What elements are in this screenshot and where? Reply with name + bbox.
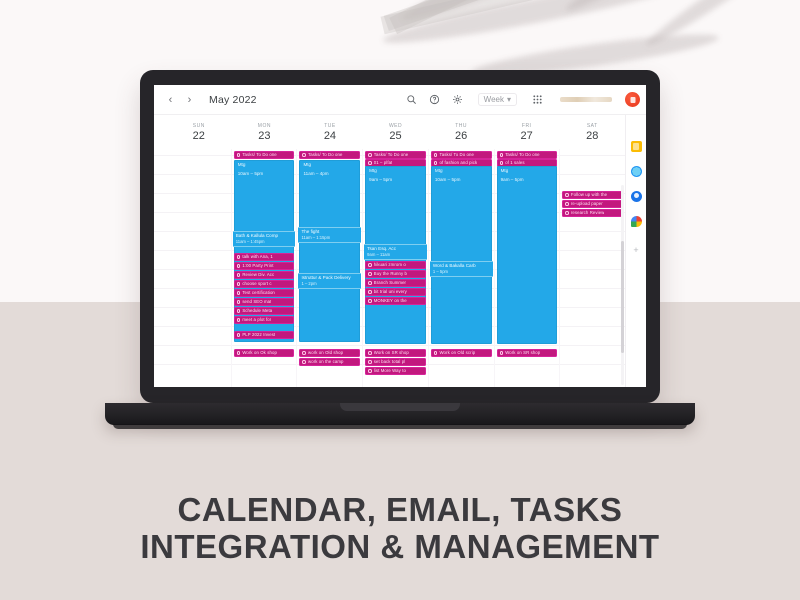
task-label: Follow up with the <box>571 192 607 197</box>
day-of-week-label: FRI <box>522 123 532 129</box>
task-checkbox-icon[interactable] <box>302 351 306 355</box>
addon-sidebar: + <box>625 115 646 387</box>
event-title: Mtg <box>300 161 359 170</box>
calendar-subevent[interactable]: Istruttur & Pack Delivery1 – 2pm <box>298 273 361 289</box>
search-icon[interactable] <box>403 91 420 108</box>
task-label: work on the camp <box>308 359 344 364</box>
laptop-mockup: ‹ › May 2022 <box>140 70 660 425</box>
task-label: Test certification <box>242 290 275 295</box>
calendar-event[interactable]: Mtg9am – 5pm <box>497 166 558 344</box>
task-chip[interactable]: Work on SR shop <box>365 349 426 357</box>
task-label: Review Div. Acc <box>242 272 274 277</box>
task-checkbox-icon[interactable] <box>237 255 241 259</box>
chevron-down-icon: ▾ <box>507 95 511 104</box>
task-checkbox-icon[interactable] <box>237 153 241 157</box>
subevent-time: 1 – 5pm <box>433 269 490 275</box>
calendar-grid: SUN22MON23TUE24WED25THU26FRI27SAT28 Task… <box>154 115 625 387</box>
task-label: 1:00 Party Print <box>242 263 273 268</box>
calendar-toolbar: ‹ › May 2022 <box>154 85 646 115</box>
day-header-fri[interactable]: FRI27 <box>494 115 560 149</box>
task-label: choose sport c <box>242 281 271 286</box>
task-label: set back total pl <box>374 359 406 364</box>
subevent-time: 1 – 2pm <box>301 281 358 287</box>
day-header-sun[interactable]: SUN22 <box>166 115 232 149</box>
task-checkbox-icon[interactable] <box>368 290 372 294</box>
day-number-label: 23 <box>258 130 270 142</box>
task-label: Work on SR shop <box>505 350 540 355</box>
task-chip[interactable]: talk with Ana, 1 <box>234 253 295 261</box>
task-label: of 1 sales <box>505 160 524 165</box>
help-icon[interactable] <box>426 91 443 108</box>
task-checkbox-icon[interactable] <box>302 360 306 364</box>
day-header-tue[interactable]: TUE24 <box>297 115 363 149</box>
maps-addon-icon[interactable] <box>631 216 642 227</box>
day-number-label: 22 <box>193 130 205 142</box>
view-mode-dropdown[interactable]: Week ▾ <box>478 93 517 106</box>
task-label: Tasks/ To Do one <box>308 152 342 157</box>
calendar-subevent[interactable]: Tsan Esq. Acc9am – 11am <box>364 244 427 260</box>
event-title: Mtg <box>498 167 557 176</box>
tasks-addon-icon[interactable] <box>631 166 642 177</box>
settings-gear-icon[interactable] <box>449 91 466 108</box>
day-number-label: 26 <box>455 130 467 142</box>
day-column-sun[interactable] <box>166 149 231 387</box>
task-checkbox-icon[interactable] <box>237 300 241 304</box>
task-checkbox-icon[interactable] <box>368 272 372 276</box>
task-label: work on Old shop <box>308 350 343 355</box>
task-label: Tasks/ To Do one <box>505 152 539 157</box>
task-label: send SEO mat <box>242 299 271 304</box>
day-header-sat[interactable]: SAT28 <box>559 115 625 149</box>
subevent-time: 11am – 1:45pm <box>236 239 293 245</box>
task-label: Work on Ok shop <box>242 350 277 355</box>
calendar-subevent[interactable]: Bath & Kallula Comp11am – 1:45pm <box>233 231 296 247</box>
task-label: Tasks/ To Do one <box>439 152 473 157</box>
task-checkbox-icon[interactable] <box>368 351 372 355</box>
apps-grid-icon[interactable] <box>529 91 546 108</box>
task-label: research Review <box>571 210 605 215</box>
calendar-event[interactable]: Mtg11am – 4pm <box>299 160 360 342</box>
task-label: list More Way to <box>374 368 406 373</box>
day-of-week-label: SAT <box>587 123 598 129</box>
task-label: meet a plot for <box>242 317 271 322</box>
task-label: talk with Ana, 1 <box>242 254 273 259</box>
task-checkbox-icon[interactable] <box>434 153 438 157</box>
task-checkbox-icon[interactable] <box>434 351 438 355</box>
task-checkbox-icon[interactable] <box>565 202 569 206</box>
day-of-week-label: THU <box>455 123 467 129</box>
scrollbar-thumb[interactable] <box>621 241 624 353</box>
avatar[interactable] <box>625 92 640 107</box>
task-checkbox-icon[interactable] <box>368 153 372 157</box>
event-title: Mtg <box>235 161 294 170</box>
task-chip[interactable]: work on the camp <box>299 358 360 366</box>
day-number-label: 24 <box>324 130 336 142</box>
vertical-scrollbar[interactable] <box>621 185 624 385</box>
task-chip[interactable]: hikuari zmrom o <box>365 261 426 269</box>
task-chip[interactable]: Tasks/ To Do one <box>497 151 558 159</box>
task-chip[interactable]: set back total pl <box>365 358 426 366</box>
task-chip[interactable]: Work on SR shop <box>497 349 558 357</box>
calendar-subevent[interactable]: The fight11am – 1:15pm <box>298 227 361 243</box>
day-of-week-label: SUN <box>193 123 205 129</box>
task-label: 01 – plfat <box>374 160 393 165</box>
task-chip[interactable]: Tasks/ To Do one <box>299 151 360 159</box>
laptop-base-notch <box>340 403 460 411</box>
day-header-thu[interactable]: THU26 <box>428 115 494 149</box>
caption-line-2: INTEGRATION & MANAGEMENT <box>0 529 800 566</box>
task-label: Tasks/ To Do one <box>242 152 276 157</box>
day-columns: Tasks/ To Do oneMtg10am – 5pmBath & Kall… <box>166 149 625 387</box>
task-chip[interactable]: work on Old shop <box>299 349 360 357</box>
task-chip[interactable]: list More Way to <box>365 367 426 375</box>
day-column-mon[interactable]: Tasks/ To Do oneMtg10am – 5pmBath & Kall… <box>231 149 297 387</box>
task-chip[interactable]: MONKEY on the <box>365 297 426 305</box>
task-chip[interactable]: Tasks/ To Do one <box>365 151 426 159</box>
task-checkbox-icon[interactable] <box>237 309 241 313</box>
task-label: Schedule Meta <box>242 308 272 313</box>
view-mode-value: Week <box>484 95 504 104</box>
day-header-row: SUN22MON23TUE24WED25THU26FRI27SAT28 <box>154 115 625 149</box>
add-addon-icon[interactable]: + <box>632 245 641 254</box>
task-label: MONKEY on the <box>374 298 407 303</box>
calendar-body: SUN22MON23TUE24WED25THU26FRI27SAT28 Task… <box>154 115 646 387</box>
prev-week-button[interactable]: ‹ <box>164 93 177 106</box>
task-checkbox-icon[interactable] <box>237 264 241 268</box>
day-column-wed[interactable]: Tasks/ To Do one01 – plfatMtg9am – 5pmTs… <box>362 149 428 387</box>
task-checkbox-icon[interactable] <box>237 282 241 286</box>
task-chip[interactable]: bit trial uni every <box>365 288 426 296</box>
task-checkbox-icon[interactable] <box>368 360 372 364</box>
month-label: May 2022 <box>209 94 257 106</box>
event-time: 9am – 5pm <box>366 176 425 185</box>
task-checkbox-icon[interactable] <box>368 369 372 373</box>
day-of-week-label: MON <box>258 123 271 129</box>
task-chip[interactable]: meet a plot for <box>234 316 295 324</box>
task-label: Work on Old scrip <box>439 350 475 355</box>
task-checkbox-icon[interactable] <box>500 153 504 157</box>
task-chip[interactable]: Follow up with the <box>562 191 623 199</box>
laptop-base-foot <box>113 424 687 429</box>
event-time: 9am – 5pm <box>498 176 557 185</box>
event-time: 11am – 4pm <box>300 170 359 179</box>
day-of-week-label: WED <box>389 123 402 129</box>
task-label: Tasks/ To Do one <box>374 152 408 157</box>
task-label: re-upload paper <box>571 201 603 206</box>
task-checkbox-icon[interactable] <box>237 351 241 355</box>
task-label: Branch Summer <box>374 280 406 285</box>
day-column-thu[interactable]: Tasks/ To Do oneof fashion and pickMtg10… <box>428 149 494 387</box>
task-checkbox-icon[interactable] <box>368 263 372 267</box>
task-chip[interactable]: re-upload paper <box>562 200 623 208</box>
task-chip[interactable]: research Review <box>562 209 623 217</box>
task-label: PLP 2022 Invest <box>242 332 275 337</box>
event-title: Mtg <box>432 167 491 176</box>
task-checkbox-icon[interactable] <box>237 318 241 322</box>
task-checkbox-icon[interactable] <box>500 351 504 355</box>
day-number-label: 28 <box>586 130 598 142</box>
day-column-sat[interactable]: Follow up with there-upload paperresearc… <box>559 149 625 387</box>
day-header-wed[interactable]: WED25 <box>363 115 429 149</box>
task-checkbox-icon[interactable] <box>237 333 241 337</box>
task-chip[interactable]: PLP 2022 Invest <box>234 331 295 339</box>
task-chip[interactable]: 1:00 Party Print <box>234 262 295 270</box>
task-checkbox-icon[interactable] <box>368 161 372 165</box>
task-chip[interactable]: send SEO mat <box>234 298 295 306</box>
task-checkbox-icon[interactable] <box>565 193 569 197</box>
task-chip[interactable]: Buy the Runny b <box>365 270 426 278</box>
task-chip[interactable]: Schedule Meta <box>234 307 295 315</box>
laptop-lid: ‹ › May 2022 <box>140 70 660 403</box>
week-grid-scroll[interactable]: Tasks/ To Do oneMtg10am – 5pmBath & Kall… <box>154 149 625 387</box>
day-number-label: 27 <box>521 130 533 142</box>
caption-line-1: CALENDAR, EMAIL, TASKS <box>0 492 800 529</box>
subevent-time: 9am – 11am <box>367 252 424 258</box>
task-chip[interactable]: Work on Ok shop <box>234 349 295 357</box>
task-label: Work on SR shop <box>374 350 409 355</box>
task-chip[interactable]: choose sport c <box>234 280 295 288</box>
subevent-time: 11am – 1:15pm <box>301 235 358 241</box>
laptop-screen: ‹ › May 2022 <box>154 85 646 387</box>
task-chip[interactable]: Tasks/ To Do one <box>234 151 295 159</box>
calendar-event[interactable]: Mtg10am – 5pm <box>234 160 295 342</box>
task-chip[interactable]: Test certification <box>234 289 295 297</box>
day-column-tue[interactable]: Tasks/ To Do oneMtg11am – 4pmThe fight11… <box>296 149 362 387</box>
task-label: of fashion and pick <box>439 160 477 165</box>
task-label: Buy the Runny b <box>374 271 407 276</box>
task-label: hikuari zmrom o <box>374 262 406 267</box>
task-checkbox-icon[interactable] <box>565 211 569 215</box>
task-chip[interactable]: Tasks/ To Do one <box>431 151 492 159</box>
day-number-label: 25 <box>389 130 401 142</box>
task-checkbox-icon[interactable] <box>368 299 372 303</box>
event-time: 10am – 5pm <box>432 176 491 185</box>
task-checkbox-icon[interactable] <box>302 153 306 157</box>
task-checkbox-icon[interactable] <box>434 161 438 165</box>
task-label: bit trial uni every <box>374 289 407 294</box>
event-time: 10am – 5pm <box>235 170 294 179</box>
day-of-week-label: TUE <box>324 123 336 129</box>
calendar-subevent[interactable]: Word & Bakalla Carb1 – 5pm <box>430 261 493 277</box>
task-chip[interactable]: Branch Summer <box>365 279 426 287</box>
calendar-event[interactable]: Mtg10am – 5pm <box>431 166 492 344</box>
task-checkbox-icon[interactable] <box>500 161 504 165</box>
promo-caption: CALENDAR, EMAIL, TASKS INTEGRATION & MAN… <box>0 492 800 566</box>
day-column-fri[interactable]: Tasks/ To Do oneof 1 salesMtg9am – 5pmWo… <box>494 149 560 387</box>
task-checkbox-icon[interactable] <box>237 273 241 277</box>
day-header-mon[interactable]: MON23 <box>232 115 298 149</box>
keep-addon-icon[interactable] <box>631 141 642 152</box>
contacts-addon-icon[interactable] <box>631 191 642 202</box>
event-title: Mtg <box>366 167 425 176</box>
brand-wordmark <box>560 97 612 102</box>
laptop-base <box>105 403 695 425</box>
task-chip[interactable]: Work on Old scrip <box>431 349 492 357</box>
task-checkbox-icon[interactable] <box>368 281 372 285</box>
next-week-button[interactable]: › <box>183 93 196 106</box>
task-checkbox-icon[interactable] <box>237 291 241 295</box>
task-chip[interactable]: Review Div. Acc <box>234 271 295 279</box>
